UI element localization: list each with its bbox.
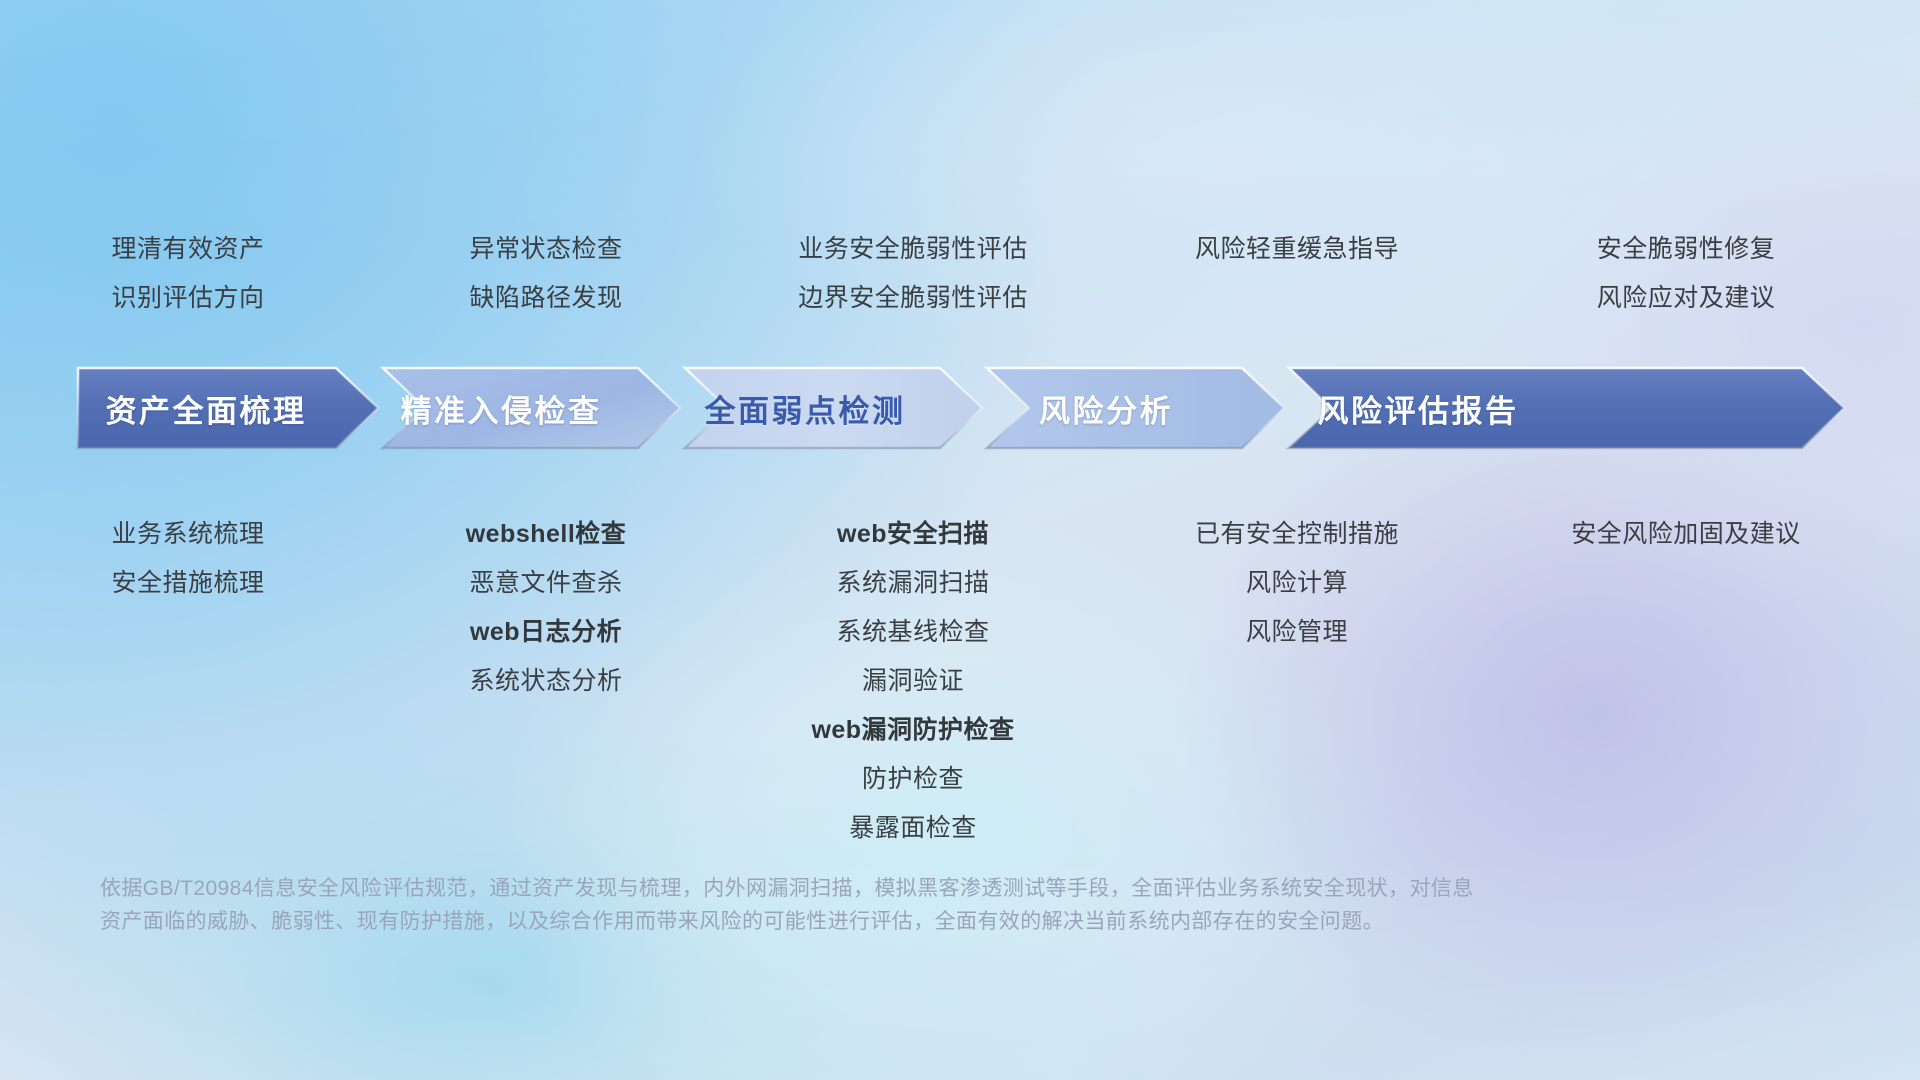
bottom-column-stage-1: 业务系统梳理 安全措施梳理 bbox=[2, 510, 374, 608]
top-annotation-item: 安全脆弱性修复 bbox=[1597, 225, 1776, 274]
top-annotation-item: 异常状态检查 bbox=[469, 225, 622, 274]
bottom-annotation-item: 安全风险加固及建议 bbox=[1571, 510, 1801, 559]
top-annotation-item: 理清有效资产 bbox=[111, 225, 264, 274]
bottom-annotation-item: 已有安全控制措施 bbox=[1195, 510, 1399, 559]
top-annotation-row: 理清有效资产 识别评估方向 异常状态检查 缺陷路径发现 业务安全脆弱性评估 边界… bbox=[0, 225, 1920, 323]
bottom-annotation-item: web日志分析 bbox=[470, 608, 622, 657]
chevron-label-stage-4[interactable]: 风险分析 bbox=[966, 366, 1246, 450]
bottom-annotation-item: 业务系统梳理 bbox=[111, 510, 264, 559]
top-annotation-item: 边界安全脆弱性评估 bbox=[798, 274, 1028, 323]
top-annotation-item: 缺陷路径发现 bbox=[469, 274, 622, 323]
bottom-annotation-item: 系统基线检查 bbox=[836, 608, 989, 657]
bottom-annotation-item: webshell检查 bbox=[466, 510, 627, 559]
top-column-stage-4: 风险轻重缓急指导 bbox=[1108, 225, 1486, 274]
chevron-label-stage-3[interactable]: 全面弱点检测 bbox=[664, 366, 946, 450]
footer-description: 依据GB/T20984信息安全风险评估规范，通过资产发现与梳理，内外网漏洞扫描，… bbox=[100, 872, 1680, 938]
bottom-annotation-item: 漏洞验证 bbox=[862, 657, 964, 706]
footer-line-1: 依据GB/T20984信息安全风险评估规范，通过资产发现与梳理，内外网漏洞扫描，… bbox=[100, 872, 1680, 905]
bottom-annotation-item: 防护检查 bbox=[862, 755, 964, 804]
top-column-stage-1: 理清有效资产 识别评估方向 bbox=[2, 225, 374, 323]
chevron-label-stage-5[interactable]: 风险评估报告 bbox=[1268, 366, 1568, 450]
bottom-column-stage-5: 安全风险加固及建议 bbox=[1486, 510, 1886, 559]
bottom-annotation-item: 系统漏洞扫描 bbox=[836, 559, 989, 608]
bottom-column-stage-2: webshell检查 恶意文件查杀 web日志分析 系统状态分析 bbox=[374, 510, 718, 706]
footer-line-2: 资产面临的威胁、脆弱性、现有防护措施，以及综合作用而带来风险的可能性进行评估，全… bbox=[100, 905, 1680, 938]
top-annotation-item: 业务安全脆弱性评估 bbox=[798, 225, 1028, 274]
chevron-label-stage-2[interactable]: 精准入侵检查 bbox=[362, 366, 640, 450]
bottom-annotation-item: 恶意文件查杀 bbox=[469, 559, 622, 608]
bottom-column-stage-3: web安全扫描 系统漏洞扫描 系统基线检查 漏洞验证 web漏洞防护检查 防护检… bbox=[718, 510, 1108, 853]
top-column-stage-2: 异常状态检查 缺陷路径发现 bbox=[374, 225, 718, 323]
top-annotation-item: 识别评估方向 bbox=[111, 274, 264, 323]
bottom-annotation-item: web漏洞防护检查 bbox=[811, 706, 1014, 755]
chevron-label-stage-1[interactable]: 资产全面梳理 bbox=[78, 366, 334, 450]
bottom-annotation-item: 系统状态分析 bbox=[469, 657, 622, 706]
top-column-stage-5: 安全脆弱性修复 风险应对及建议 bbox=[1486, 225, 1886, 323]
slide-canvas: 理清有效资产 识别评估方向 异常状态检查 缺陷路径发现 业务安全脆弱性评估 边界… bbox=[0, 0, 1920, 1080]
bottom-annotation-row: 业务系统梳理 安全措施梳理 webshell检查 恶意文件查杀 web日志分析 … bbox=[0, 510, 1920, 853]
top-annotation-item: 风险轻重缓急指导 bbox=[1195, 225, 1399, 274]
slide-content: 理清有效资产 识别评估方向 异常状态检查 缺陷路径发现 业务安全脆弱性评估 边界… bbox=[0, 0, 1920, 1080]
bottom-column-stage-4: 已有安全控制措施 风险计算 风险管理 bbox=[1108, 510, 1486, 657]
bottom-annotation-item: 风险计算 bbox=[1246, 559, 1348, 608]
top-annotation-item: 风险应对及建议 bbox=[1597, 274, 1776, 323]
bottom-annotation-item: 暴露面检查 bbox=[849, 804, 977, 853]
bottom-annotation-item: 安全措施梳理 bbox=[111, 559, 264, 608]
bottom-annotation-item: web安全扫描 bbox=[837, 510, 989, 559]
top-column-stage-3: 业务安全脆弱性评估 边界安全脆弱性评估 bbox=[718, 225, 1108, 323]
bottom-annotation-item: 风险管理 bbox=[1246, 608, 1348, 657]
